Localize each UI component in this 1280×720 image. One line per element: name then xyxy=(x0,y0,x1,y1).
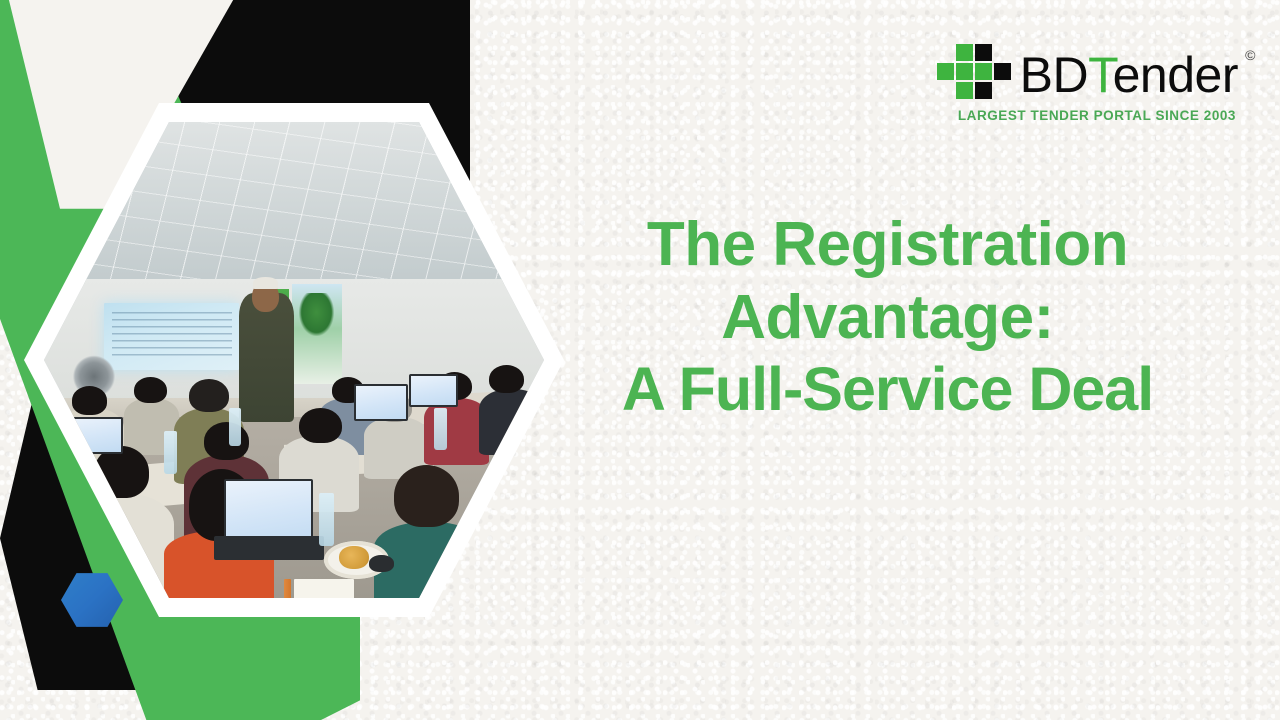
logo-word-t: T xyxy=(1088,47,1113,103)
banner-root: BDTender © LARGEST TENDER PORTAL SINCE 2… xyxy=(0,0,1280,720)
logo-wordmark: BDTender © xyxy=(1020,51,1238,100)
headline-line-1: The Registration xyxy=(525,208,1250,281)
page-title: The Registration Advantage: A Full-Servi… xyxy=(525,208,1250,426)
logo-word-bd: BD xyxy=(1020,47,1088,103)
bdtender-logo[interactable]: BDTender © LARGEST TENDER PORTAL SINCE 2… xyxy=(937,44,1238,123)
copyright-icon: © xyxy=(1245,49,1255,63)
headline-line-3: A Full-Service Deal xyxy=(525,354,1250,426)
headline-line-2: Advantage: xyxy=(525,281,1250,354)
logo-row: BDTender © xyxy=(937,44,1238,106)
logo-tagline: LARGEST TENDER PORTAL SINCE 2003 xyxy=(958,108,1236,123)
logo-word-ender: ender xyxy=(1113,47,1238,103)
pixel-cross-icon xyxy=(937,44,1011,106)
